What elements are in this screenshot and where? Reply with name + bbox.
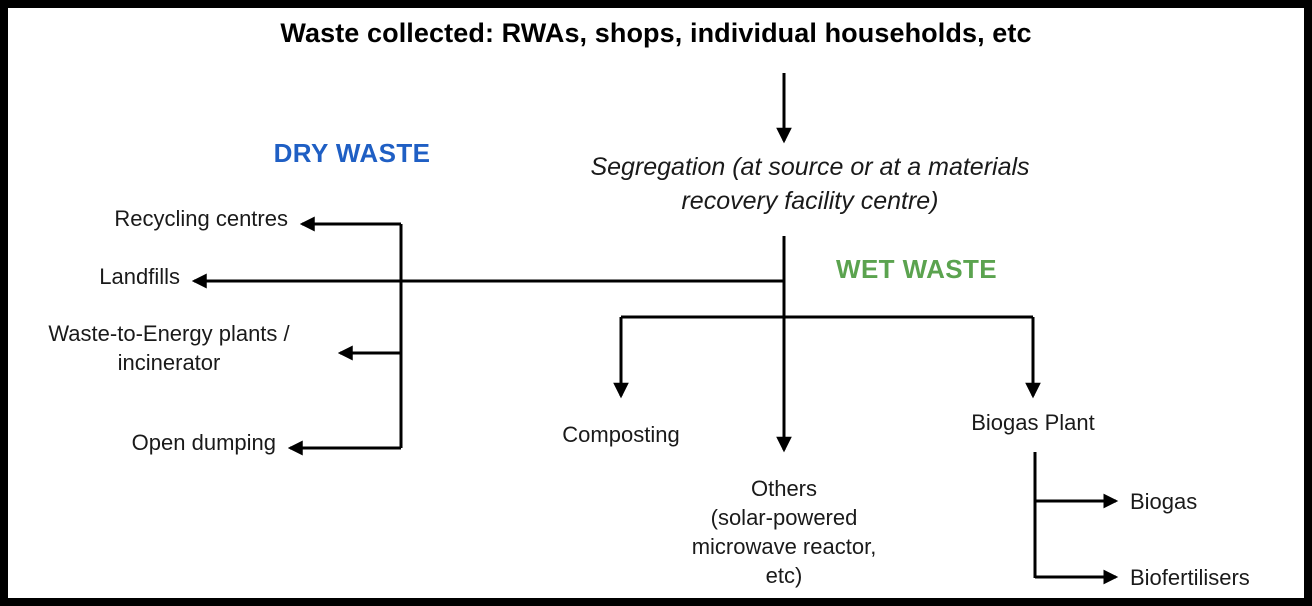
node-biogas: Biogas xyxy=(1130,487,1310,516)
flowchart-canvas: Waste collected: RWAs, shops, individual… xyxy=(0,0,1312,606)
page-title: Waste collected: RWAs, shops, individual… xyxy=(0,18,1312,49)
node-biogas-plant: Biogas Plant xyxy=(933,408,1133,437)
label-dry-waste: DRY WASTE xyxy=(232,138,472,169)
node-others: Others (solar-powered microwave reactor,… xyxy=(654,474,914,590)
node-recycling-centres: Recycling centres xyxy=(0,204,288,233)
node-landfills: Landfills xyxy=(0,262,180,291)
node-waste-to-energy-plants: Waste-to-Energy plants / incinerator xyxy=(12,319,326,377)
node-open-dumping: Open dumping xyxy=(0,428,276,457)
node-segregation: Segregation (at source or at a materials… xyxy=(560,150,1060,218)
node-biofertilisers: Biofertilisers xyxy=(1130,563,1310,592)
label-wet-waste: WET WASTE xyxy=(836,254,1076,285)
node-composting: Composting xyxy=(501,420,741,449)
